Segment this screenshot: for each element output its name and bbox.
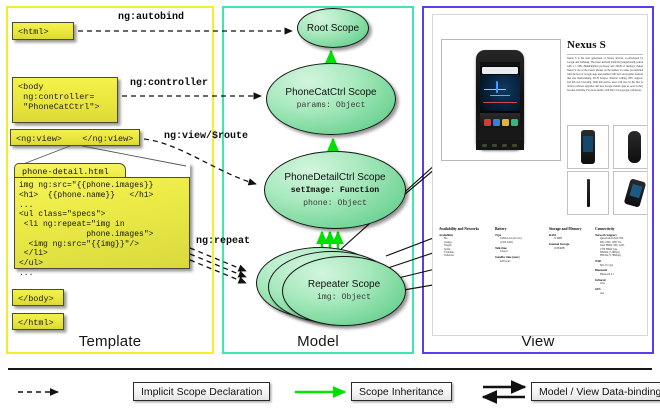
thumbnail-phone-front-angle[interactable]	[567, 125, 609, 169]
specs-heading-storage: Storage and Memory	[549, 227, 597, 231]
thumbnail-phone-side-edge[interactable]	[567, 171, 609, 215]
hero-phone-image-frame	[441, 39, 561, 161]
rendered-view-page: Nexus S Nexus S is the next generation o…	[432, 14, 648, 336]
phone-nav-bar	[476, 140, 524, 150]
specs-heading-connectivity: Connectivity	[595, 227, 645, 231]
wallpaper-streak-4	[483, 102, 517, 103]
legend-label-scope-inheritance: Scope Inheritance	[351, 382, 452, 401]
phone-screen	[480, 62, 520, 128]
nav-key-home	[512, 144, 517, 148]
wallpaper-streak-1	[484, 89, 506, 90]
scope-phonedetailctrl: PhoneDetailCtrl Scope setImage: Function…	[264, 151, 406, 229]
phone-detail-card: phone-detail.html img ng:src="{{phone.im…	[14, 163, 190, 269]
thumbnail-phone-back[interactable]	[613, 125, 648, 169]
scope-phonedetailctrl-prop-setimage: setImage: Function	[291, 186, 379, 196]
specs-value-gps: true	[595, 292, 645, 295]
specs-value-battery-standby: 428 hours	[495, 260, 543, 263]
connector-label-ng-autobind: ng:autobind	[118, 12, 184, 23]
specs-table: Availability and Networks Availability M…	[439, 227, 641, 319]
phone-detail-code: img ng:src="{{phone.images}} <h1> {{phon…	[14, 177, 190, 269]
title-divider	[567, 54, 643, 55]
nav-key-search	[502, 144, 507, 148]
scope-phonecatctrl-title: PhoneCatCtrl Scope	[285, 87, 376, 98]
connector-label-ng-repeat: ng:repeat	[196, 236, 250, 247]
scope-repeater-prop-img: img: Object	[317, 293, 371, 303]
scope-repeater: Repeater Scope img: Object	[282, 256, 406, 326]
dock-icon-1	[484, 119, 491, 126]
scope-phonedetailctrl-prop-phone: phone: Object	[303, 199, 367, 209]
connector-label-ng-controller: ng:controller	[130, 78, 208, 89]
specs-column-connectivity: Connectivity Network Support Quad-band G…	[595, 227, 645, 295]
dock-icon-2	[493, 119, 500, 126]
column-label-model: Model	[224, 333, 412, 350]
specs-value-internal-storage: 16384MB	[549, 247, 597, 250]
thumb-phone-screen-1	[583, 136, 593, 152]
specs-value-ram: 512MB	[549, 237, 597, 240]
wallpaper-streak-3	[496, 81, 498, 93]
specs-value-availability-2: Orange, Singtel, Sprint, T-Mobile, Vodaf…	[439, 241, 487, 258]
phone-device-illustration	[476, 50, 524, 150]
code-box-html-tag: <html>	[12, 22, 74, 40]
phone-wallpaper	[480, 75, 520, 111]
phone-app-dock	[480, 113, 520, 128]
phone-search-widget	[482, 67, 518, 74]
diagram-canvas: Template Model View	[0, 0, 660, 420]
dock-icon-4	[511, 119, 518, 126]
scope-phonedetailctrl-title: PhoneDetailCtrl Scope	[284, 172, 385, 183]
scope-root-title: Root Scope	[307, 23, 359, 34]
thumb-phone-body-2	[628, 131, 641, 163]
scope-root: Root Scope	[297, 8, 369, 48]
specs-column-battery: Battery Type Lithium Ion (Li-Ion) (1500 …	[495, 227, 543, 263]
specs-column-storage: Storage and Memory RAM 512MB Internal St…	[549, 227, 597, 250]
specs-value-battery-talktime: 6 hours	[495, 250, 543, 253]
code-box-end-body-tag: </body>	[12, 289, 64, 306]
specs-value-infrared: false	[595, 282, 645, 285]
code-box-ngview-tag: <ng:view> </ng:view>	[10, 129, 140, 146]
legend-divider	[8, 368, 652, 370]
specs-heading-availability: Availability and Networks	[439, 227, 487, 231]
wallpaper-streak-2	[490, 95, 510, 96]
specs-value-wifi: 802.11 b/g/n	[595, 264, 645, 267]
product-description: Nexus S is the next generation of Nexus …	[567, 57, 643, 119]
nav-key-back	[482, 144, 487, 148]
scope-phonecatctrl-prop-params: params: Object	[297, 101, 366, 111]
specs-value-battery-type: Lithium Ion (Li-Ion) (1500 mAh)	[495, 237, 543, 244]
column-label-template: Template	[8, 333, 212, 350]
specs-value-network-support: Quad-band GSM: 850, 900, 1800, 1900 Tri-…	[595, 237, 645, 257]
specs-column-availability: Availability and Networks Availability M…	[439, 227, 487, 258]
thumbnail-phone-hand-held[interactable]	[613, 171, 648, 215]
scope-repeater-title: Repeater Scope	[308, 279, 380, 290]
connector-label-ng-view-route: ng:view/$route	[164, 131, 248, 142]
code-box-end-html-tag: </html>	[12, 313, 64, 330]
specs-value-bluetooth: Bluetooth 2.1	[595, 273, 645, 276]
phone-detail-filename: phone-detail.html	[14, 163, 126, 178]
legend-label-data-binding: Model / View Data-binding	[531, 382, 660, 401]
dock-icon-3	[502, 119, 509, 126]
nav-key-menu	[492, 144, 497, 148]
code-box-body-tag: <body ng:controller= "PhoneCatCtrl">	[12, 77, 118, 123]
product-title: Nexus S	[567, 39, 606, 51]
phone-status-bar	[480, 62, 520, 66]
scope-phonecatctrl: PhoneCatCtrl Scope params: Object	[266, 63, 396, 135]
legend-label-implicit-scope: Implicit Scope Declaration	[133, 382, 270, 401]
specs-heading-battery: Battery	[495, 227, 543, 231]
thumb-phone-body-3	[587, 179, 590, 207]
